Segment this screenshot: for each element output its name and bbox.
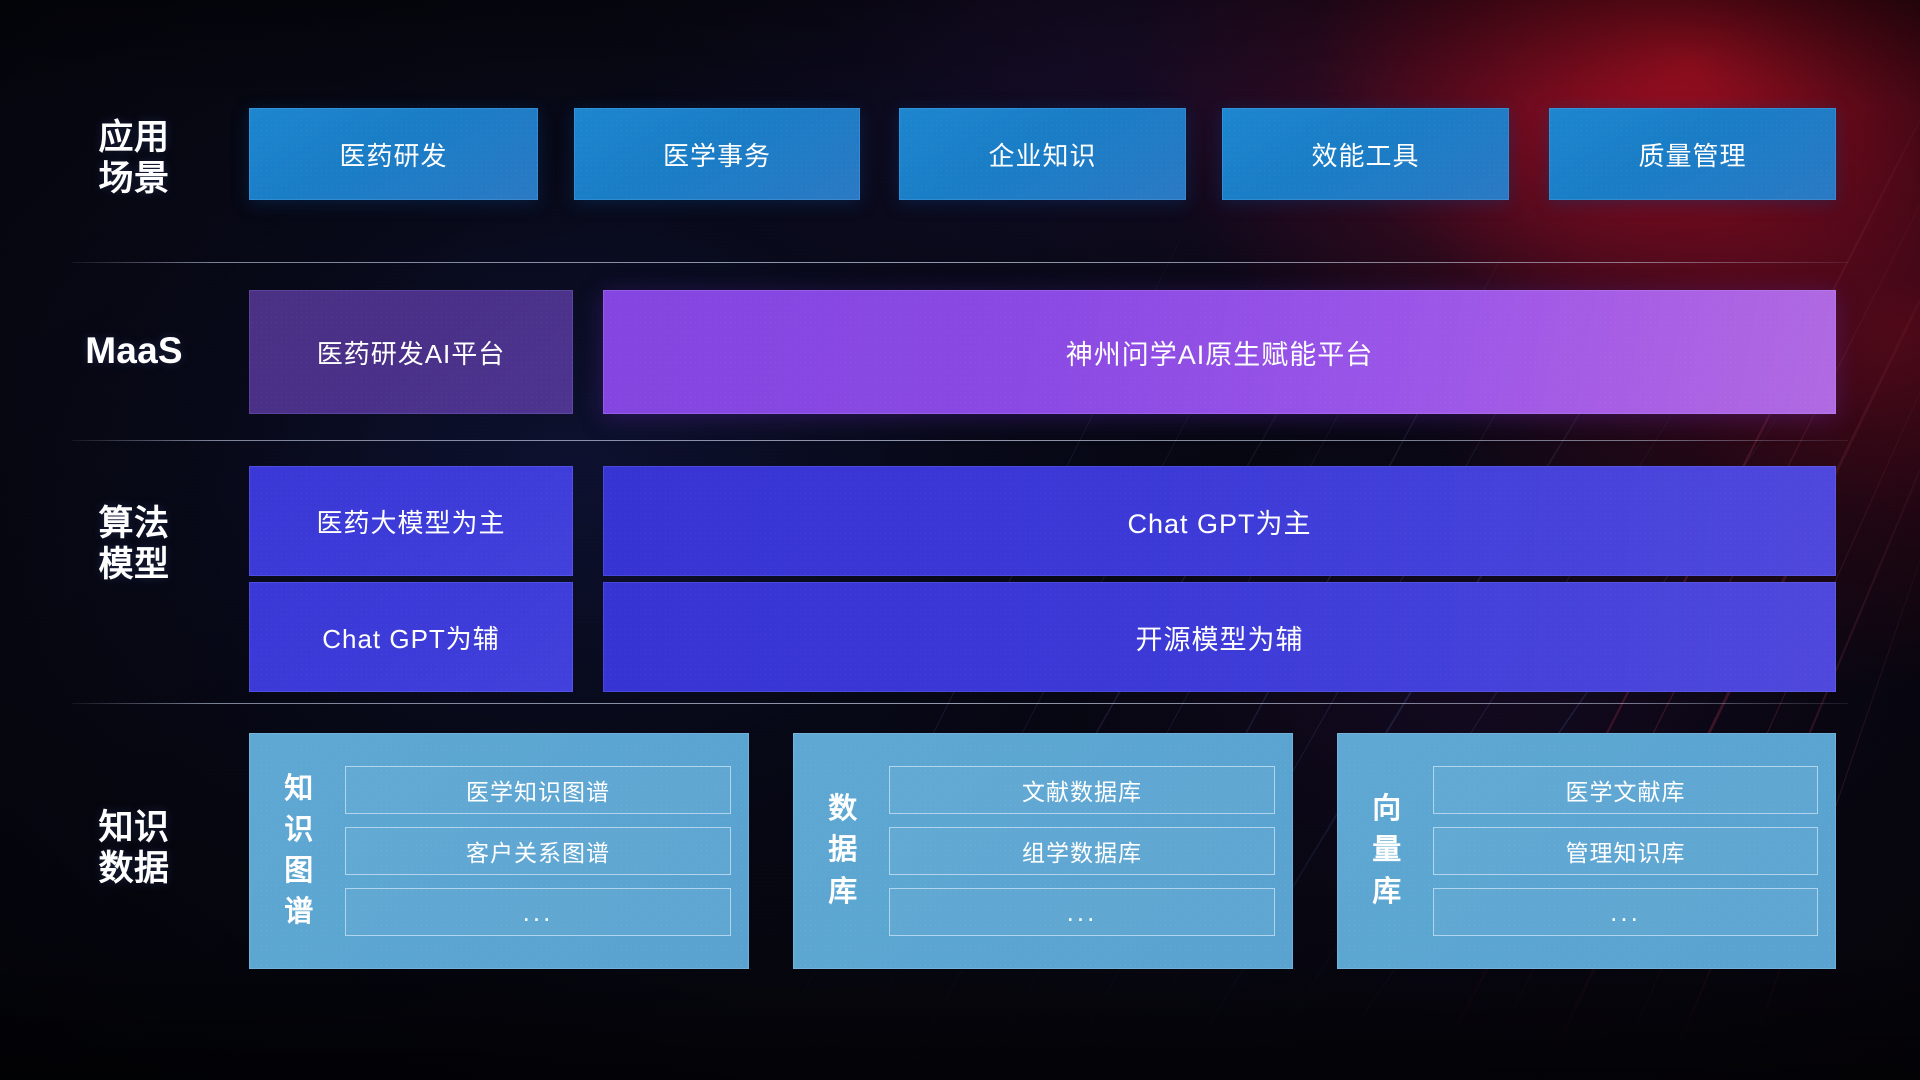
row-label-line: MaaS xyxy=(72,330,196,373)
knowledge-group-title-char: 知 xyxy=(284,769,314,810)
knowledge-item[interactable]: 管理知识库 xyxy=(1433,827,1818,875)
algorithm-box-left-2[interactable]: Chat GPT为辅 xyxy=(249,582,573,692)
knowledge-group-vector-store[interactable]: 向 量 库 医学文献库 管理知识库 ... xyxy=(1337,733,1836,969)
row-label-algorithm-models: 算法 模型 xyxy=(72,504,196,585)
application-box-5[interactable]: 质量管理 xyxy=(1549,108,1836,200)
divider-application-maas xyxy=(72,262,1848,263)
knowledge-group-title-char: 图 xyxy=(284,851,314,892)
divider-maas-algorithm xyxy=(72,440,1848,441)
application-box-label: 医学事务 xyxy=(663,136,771,173)
knowledge-group-title-char: 数 xyxy=(828,789,858,830)
knowledge-item[interactable]: 组学数据库 xyxy=(889,827,1275,875)
row-label-line: 数据 xyxy=(72,849,196,890)
row-label-line: 应用 xyxy=(72,118,196,159)
knowledge-item[interactable]: 医学文献库 xyxy=(1433,766,1818,814)
application-box-1[interactable]: 医药研发 xyxy=(249,108,538,200)
application-box-label: 效能工具 xyxy=(1311,136,1419,173)
algorithm-left-label: Chat GPT为辅 xyxy=(322,619,500,656)
knowledge-group-title: 知 识 图 谱 xyxy=(263,769,335,934)
knowledge-item-list: 医学文献库 管理知识库 ... xyxy=(1423,766,1836,936)
application-box-label: 医药研发 xyxy=(339,136,447,173)
row-label-maas: MaaS xyxy=(72,330,196,373)
algorithm-right-label: 开源模型为辅 xyxy=(1136,618,1304,657)
application-box-label: 质量管理 xyxy=(1638,136,1746,173)
knowledge-group-title-char: 库 xyxy=(828,872,858,913)
knowledge-item[interactable]: 医学知识图谱 xyxy=(345,766,731,814)
maas-platform-box-right[interactable]: 神州问学AI原生赋能平台 xyxy=(603,290,1836,414)
knowledge-group-title-char: 谱 xyxy=(284,892,314,933)
knowledge-item[interactable]: 客户关系图谱 xyxy=(345,827,731,875)
knowledge-group-title-char: 据 xyxy=(828,830,858,871)
row-label-application-scenarios: 应用 场景 xyxy=(72,118,196,199)
row-label-line: 知识 xyxy=(72,808,196,849)
row-label-line: 场景 xyxy=(72,159,196,200)
application-box-3[interactable]: 企业知识 xyxy=(899,108,1186,200)
knowledge-item-list: 文献数据库 组学数据库 ... xyxy=(879,766,1293,936)
algorithm-box-right-2[interactable]: 开源模型为辅 xyxy=(603,582,1836,692)
knowledge-group-title: 数 据 库 xyxy=(807,789,879,913)
knowledge-item-more[interactable]: ... xyxy=(345,888,731,936)
knowledge-item[interactable]: 文献数据库 xyxy=(889,766,1275,814)
knowledge-group-title: 向 量 库 xyxy=(1351,789,1423,913)
application-box-2[interactable]: 医学事务 xyxy=(574,108,860,200)
maas-left-label: 医药研发AI平台 xyxy=(317,334,506,371)
algorithm-right-label: Chat GPT为主 xyxy=(1127,502,1311,541)
maas-platform-box-left[interactable]: 医药研发AI平台 xyxy=(249,290,573,414)
knowledge-group-knowledge-graph[interactable]: 知 识 图 谱 医学知识图谱 客户关系图谱 ... xyxy=(249,733,749,969)
knowledge-group-title-char: 向 xyxy=(1372,789,1402,830)
knowledge-group-title-char: 识 xyxy=(284,810,314,851)
knowledge-item-list: 医学知识图谱 客户关系图谱 ... xyxy=(335,766,749,936)
divider-algorithm-knowledge xyxy=(72,703,1848,704)
maas-right-label: 神州问学AI原生赋能平台 xyxy=(1066,333,1374,372)
knowledge-group-title-char: 量 xyxy=(1372,830,1402,871)
knowledge-group-title-char: 库 xyxy=(1372,872,1402,913)
architecture-diagram: 应用 场景 MaaS 算法 模型 知识 数据 医药研发 医学事务 企业知识 效能… xyxy=(0,0,1920,1080)
algorithm-box-right-1[interactable]: Chat GPT为主 xyxy=(603,466,1836,576)
application-box-label: 企业知识 xyxy=(988,136,1096,173)
algorithm-box-left-1[interactable]: 医药大模型为主 xyxy=(249,466,573,576)
algorithm-left-label: 医药大模型为主 xyxy=(316,503,505,540)
row-label-line: 模型 xyxy=(72,545,196,586)
application-box-4[interactable]: 效能工具 xyxy=(1222,108,1509,200)
row-label-line: 算法 xyxy=(72,504,196,545)
knowledge-item-more[interactable]: ... xyxy=(1433,888,1818,936)
knowledge-group-database[interactable]: 数 据 库 文献数据库 组学数据库 ... xyxy=(793,733,1293,969)
row-label-knowledge-data: 知识 数据 xyxy=(72,808,196,889)
knowledge-item-more[interactable]: ... xyxy=(889,888,1275,936)
